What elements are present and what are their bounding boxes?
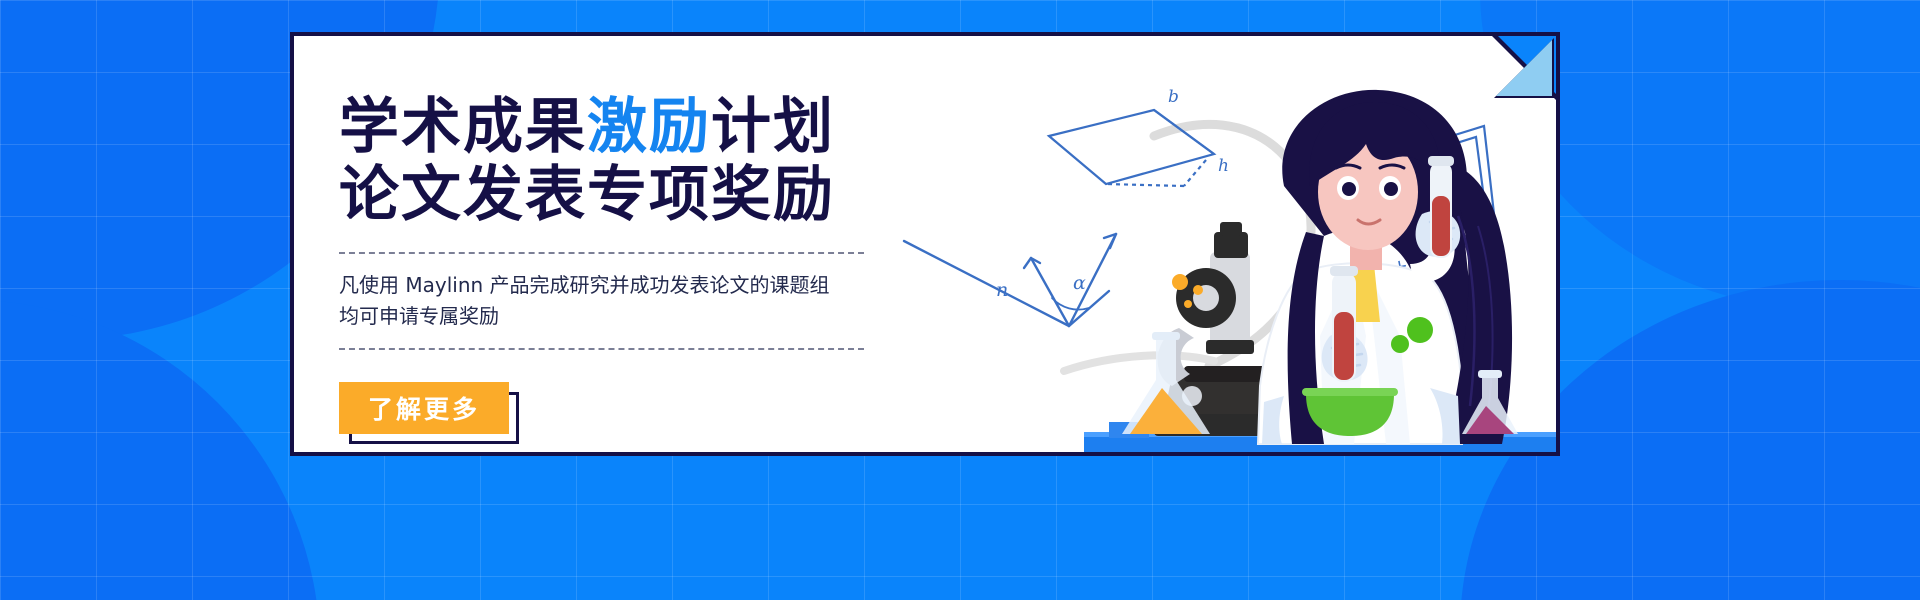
cta-button-wrapper: 了解更多: [339, 382, 519, 438]
headline-part-1: 学术成果: [339, 92, 587, 162]
headline-line-2: 论文发表专项奖励: [339, 162, 899, 230]
headline-highlight: 激励: [587, 92, 711, 162]
svg-text:n: n: [996, 279, 1008, 301]
subtitle-line-2: 均可申请专属奖励: [339, 301, 859, 332]
divider-top: [339, 252, 864, 254]
card-content: 学术成果激励计划 论文发表专项奖励 凡使用 Maylinn 产品完成研究并成功发…: [339, 94, 899, 438]
svg-text:b: b: [1168, 87, 1179, 107]
subtitle: 凡使用 Maylinn 产品完成研究并成功发表论文的课题组 均可申请专属奖励: [339, 270, 859, 332]
svg-text:α: α: [1073, 272, 1086, 294]
science-illustration: b h n α: [854, 36, 1560, 454]
learn-more-button[interactable]: 了解更多: [339, 382, 509, 434]
promo-banner: b h n α: [0, 0, 1920, 600]
divider-bottom: [339, 348, 864, 350]
promo-card: b h n α: [290, 32, 1560, 456]
svg-text:h: h: [1218, 156, 1229, 176]
headline-line-1: 学术成果激励计划: [339, 94, 899, 162]
headline-part-2: 计划: [711, 92, 835, 162]
subtitle-line-1: 凡使用 Maylinn 产品完成研究并成功发表论文的课题组: [339, 270, 859, 301]
